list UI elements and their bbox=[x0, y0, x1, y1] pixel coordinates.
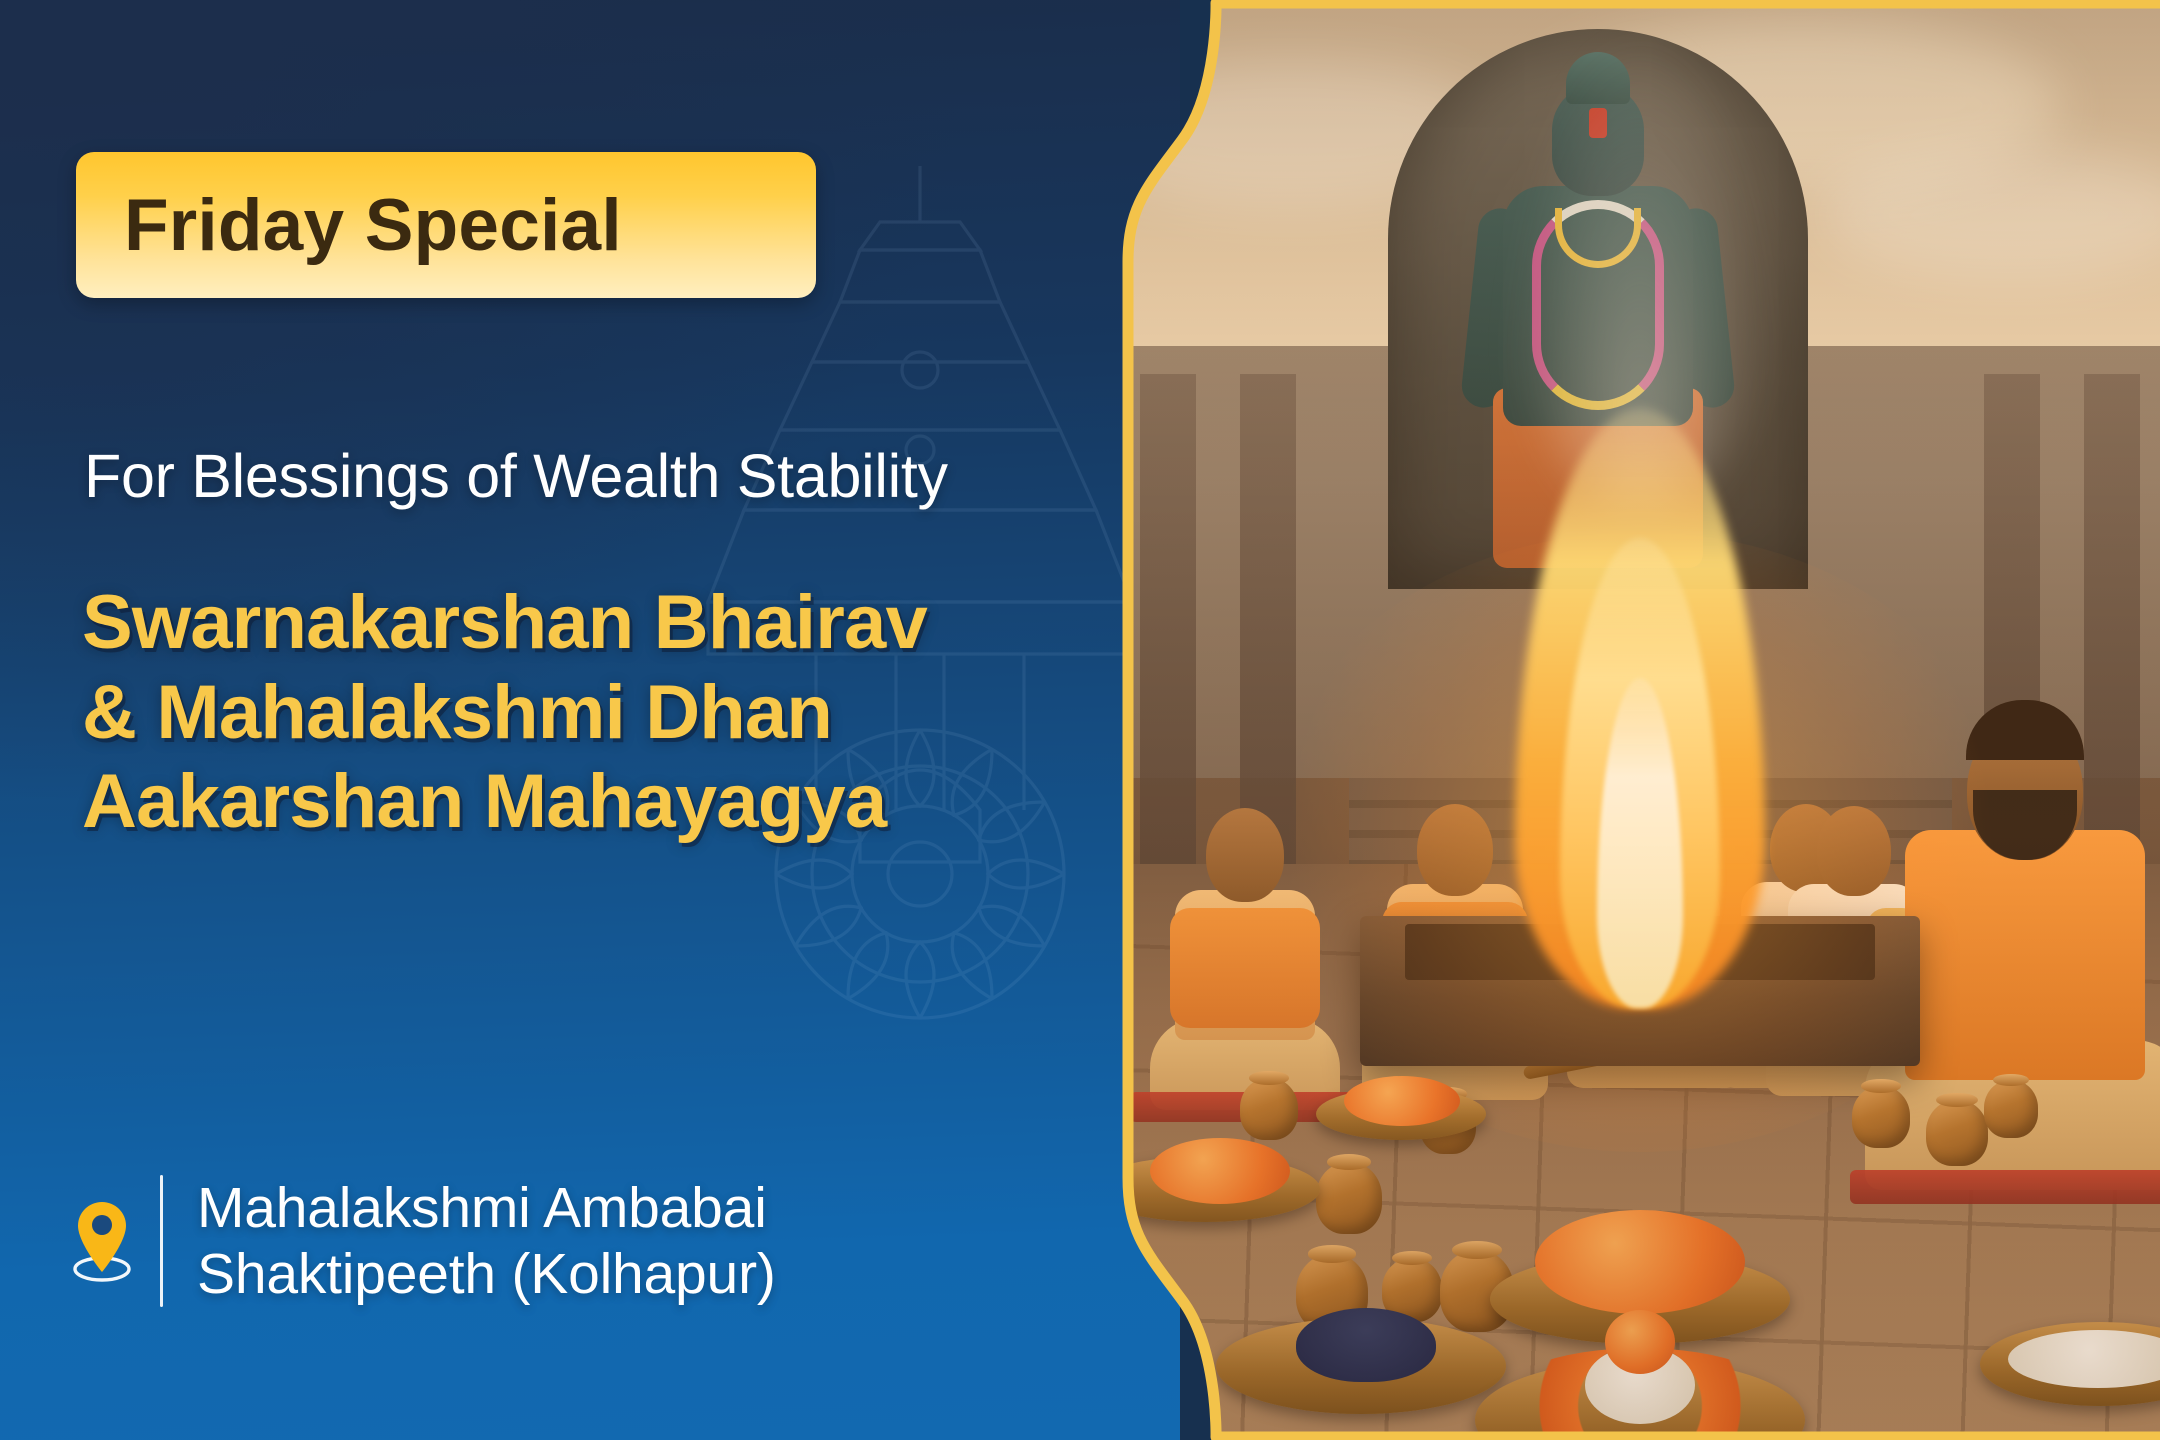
headline-line-1: Swarnakarshan Bhairav bbox=[82, 578, 1132, 668]
laddu-offering bbox=[1344, 1076, 1460, 1126]
yagya-scene-image bbox=[1120, 0, 2160, 1440]
priest-figure bbox=[1150, 790, 1340, 1110]
seating-mat bbox=[1850, 1170, 2160, 1204]
location-block: Mahalakshmi Ambabai Shaktipeeth (Kolhapu… bbox=[66, 1175, 776, 1307]
brass-pot bbox=[1316, 1162, 1382, 1234]
subtitle-text: For Blessings of Wealth Stability bbox=[84, 444, 1114, 508]
location-pin-icon bbox=[66, 1193, 138, 1289]
laddu-offering bbox=[1605, 1310, 1675, 1374]
photo-clip-area bbox=[1120, 0, 2160, 1440]
badge-label: Friday Special bbox=[76, 189, 622, 262]
havan-kund bbox=[1360, 916, 1920, 1066]
friday-special-badge[interactable]: Friday Special bbox=[76, 152, 816, 298]
laddu-offering bbox=[1535, 1210, 1745, 1314]
promo-banner: Friday Special For Blessings of Wealth S… bbox=[0, 0, 2160, 1440]
location-divider bbox=[160, 1175, 163, 1307]
location-line-1: Mahalakshmi Ambabai bbox=[197, 1175, 776, 1241]
location-line-2: Shaktipeeth (Kolhapur) bbox=[197, 1241, 776, 1307]
brass-pot bbox=[1984, 1080, 2038, 1138]
kumkum-powder bbox=[1296, 1308, 1436, 1382]
headline-block: Swarnakarshan Bhairav & Mahalakshmi Dhan… bbox=[82, 578, 1132, 847]
left-content-panel: Friday Special For Blessings of Wealth S… bbox=[0, 0, 1180, 1440]
brass-pot bbox=[1240, 1078, 1298, 1140]
ceremony-photo-panel bbox=[1120, 0, 2160, 1440]
smoke-plume bbox=[1510, 29, 1770, 509]
brass-pot bbox=[1852, 1086, 1910, 1148]
brass-pot bbox=[1926, 1100, 1988, 1166]
headline-line-3: Aakarshan Mahayagya bbox=[82, 757, 1132, 847]
laddu-offering bbox=[1150, 1138, 1290, 1204]
headline-line-2: & Mahalakshmi Dhan bbox=[82, 668, 1132, 758]
location-text: Mahalakshmi Ambabai Shaktipeeth (Kolhapu… bbox=[197, 1175, 776, 1307]
